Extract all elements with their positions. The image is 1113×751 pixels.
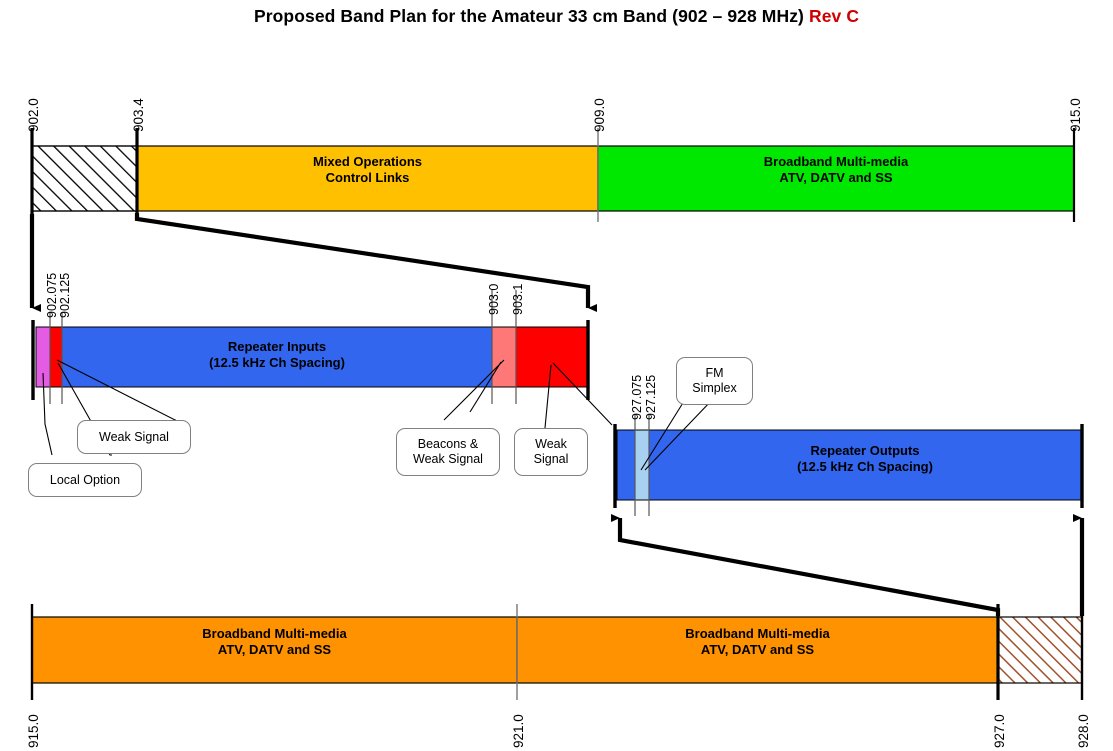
ticklabel-927p075: 927.075 [630,375,644,420]
callout-weak-signal-right-line2: Signal [534,452,569,467]
ticklabel-b915p0: 915.0 [26,714,41,748]
connector-top-to-inputs [32,213,588,308]
band-repeater-inputs-group [33,290,588,404]
band-repeater-outputs-group [615,415,1082,516]
diagram-graphics [0,0,1113,751]
seg-927-928 [998,617,1082,683]
band-plan-diagram: Proposed Band Plan for the Amateur 33 cm… [0,0,1113,751]
callout-local-option: Local Option [28,463,142,497]
ticklabel-902p075: 902.075 [45,273,59,318]
callout-local-option-text: Local Option [50,473,120,488]
callout-beacons-line2: Weak Signal [413,452,483,467]
ticklabel-b927p0: 927.0 [992,714,1007,748]
seg-beacons [492,327,516,387]
ticklabel-903p4: 903.4 [131,98,146,132]
band-top-group [32,128,1074,232]
seg-902-903p4 [32,146,137,211]
seg-fm-simplex [635,430,649,500]
callout-fm-simplex: FM Simplex [676,357,753,405]
callout-weak-signal-left: Weak Signal [77,420,191,454]
seg-broadband-orange-2 [517,617,998,683]
ticklabel-903p1: 903.1 [511,284,525,315]
seg-broadband-orange-1 [32,617,517,683]
callout-beacons: Beacons & Weak Signal [396,428,500,476]
seg-repeater-inputs [62,327,492,387]
callout-beacons-line1: Beacons & [418,437,478,452]
callout-fm-simplex-line1: FM [705,366,723,381]
callout-fm-simplex-line2: Simplex [692,381,736,396]
ticklabel-903p0: 903.0 [487,284,501,315]
ticklabel-b928p0: 928.0 [1076,714,1091,748]
ticklabel-902p125: 902.125 [58,273,72,318]
seg-mixed-ops [137,146,598,211]
seg-outputs-low [617,430,635,500]
seg-weak-signal-high [516,327,588,387]
seg-outputs-high [649,430,1081,500]
ticklabel-902p0: 902.0 [26,98,41,132]
connector-bottom-to-outputs [620,518,1082,616]
callout-weak-signal-left-text: Weak Signal [99,430,169,445]
ticklabel-927p125: 927.125 [644,375,658,420]
callout-weak-signal-right-line1: Weak [535,437,567,452]
seg-broadband-green [598,146,1074,211]
ticklabel-b921p0: 921.0 [511,714,526,748]
ticklabel-909p0: 909.0 [592,98,607,132]
callout-weak-signal-right: Weak Signal [514,428,588,476]
ticklabel-915p0: 915.0 [1068,98,1083,132]
seg-weak-signal-low [50,327,62,387]
band-bottom-group [32,604,1082,700]
